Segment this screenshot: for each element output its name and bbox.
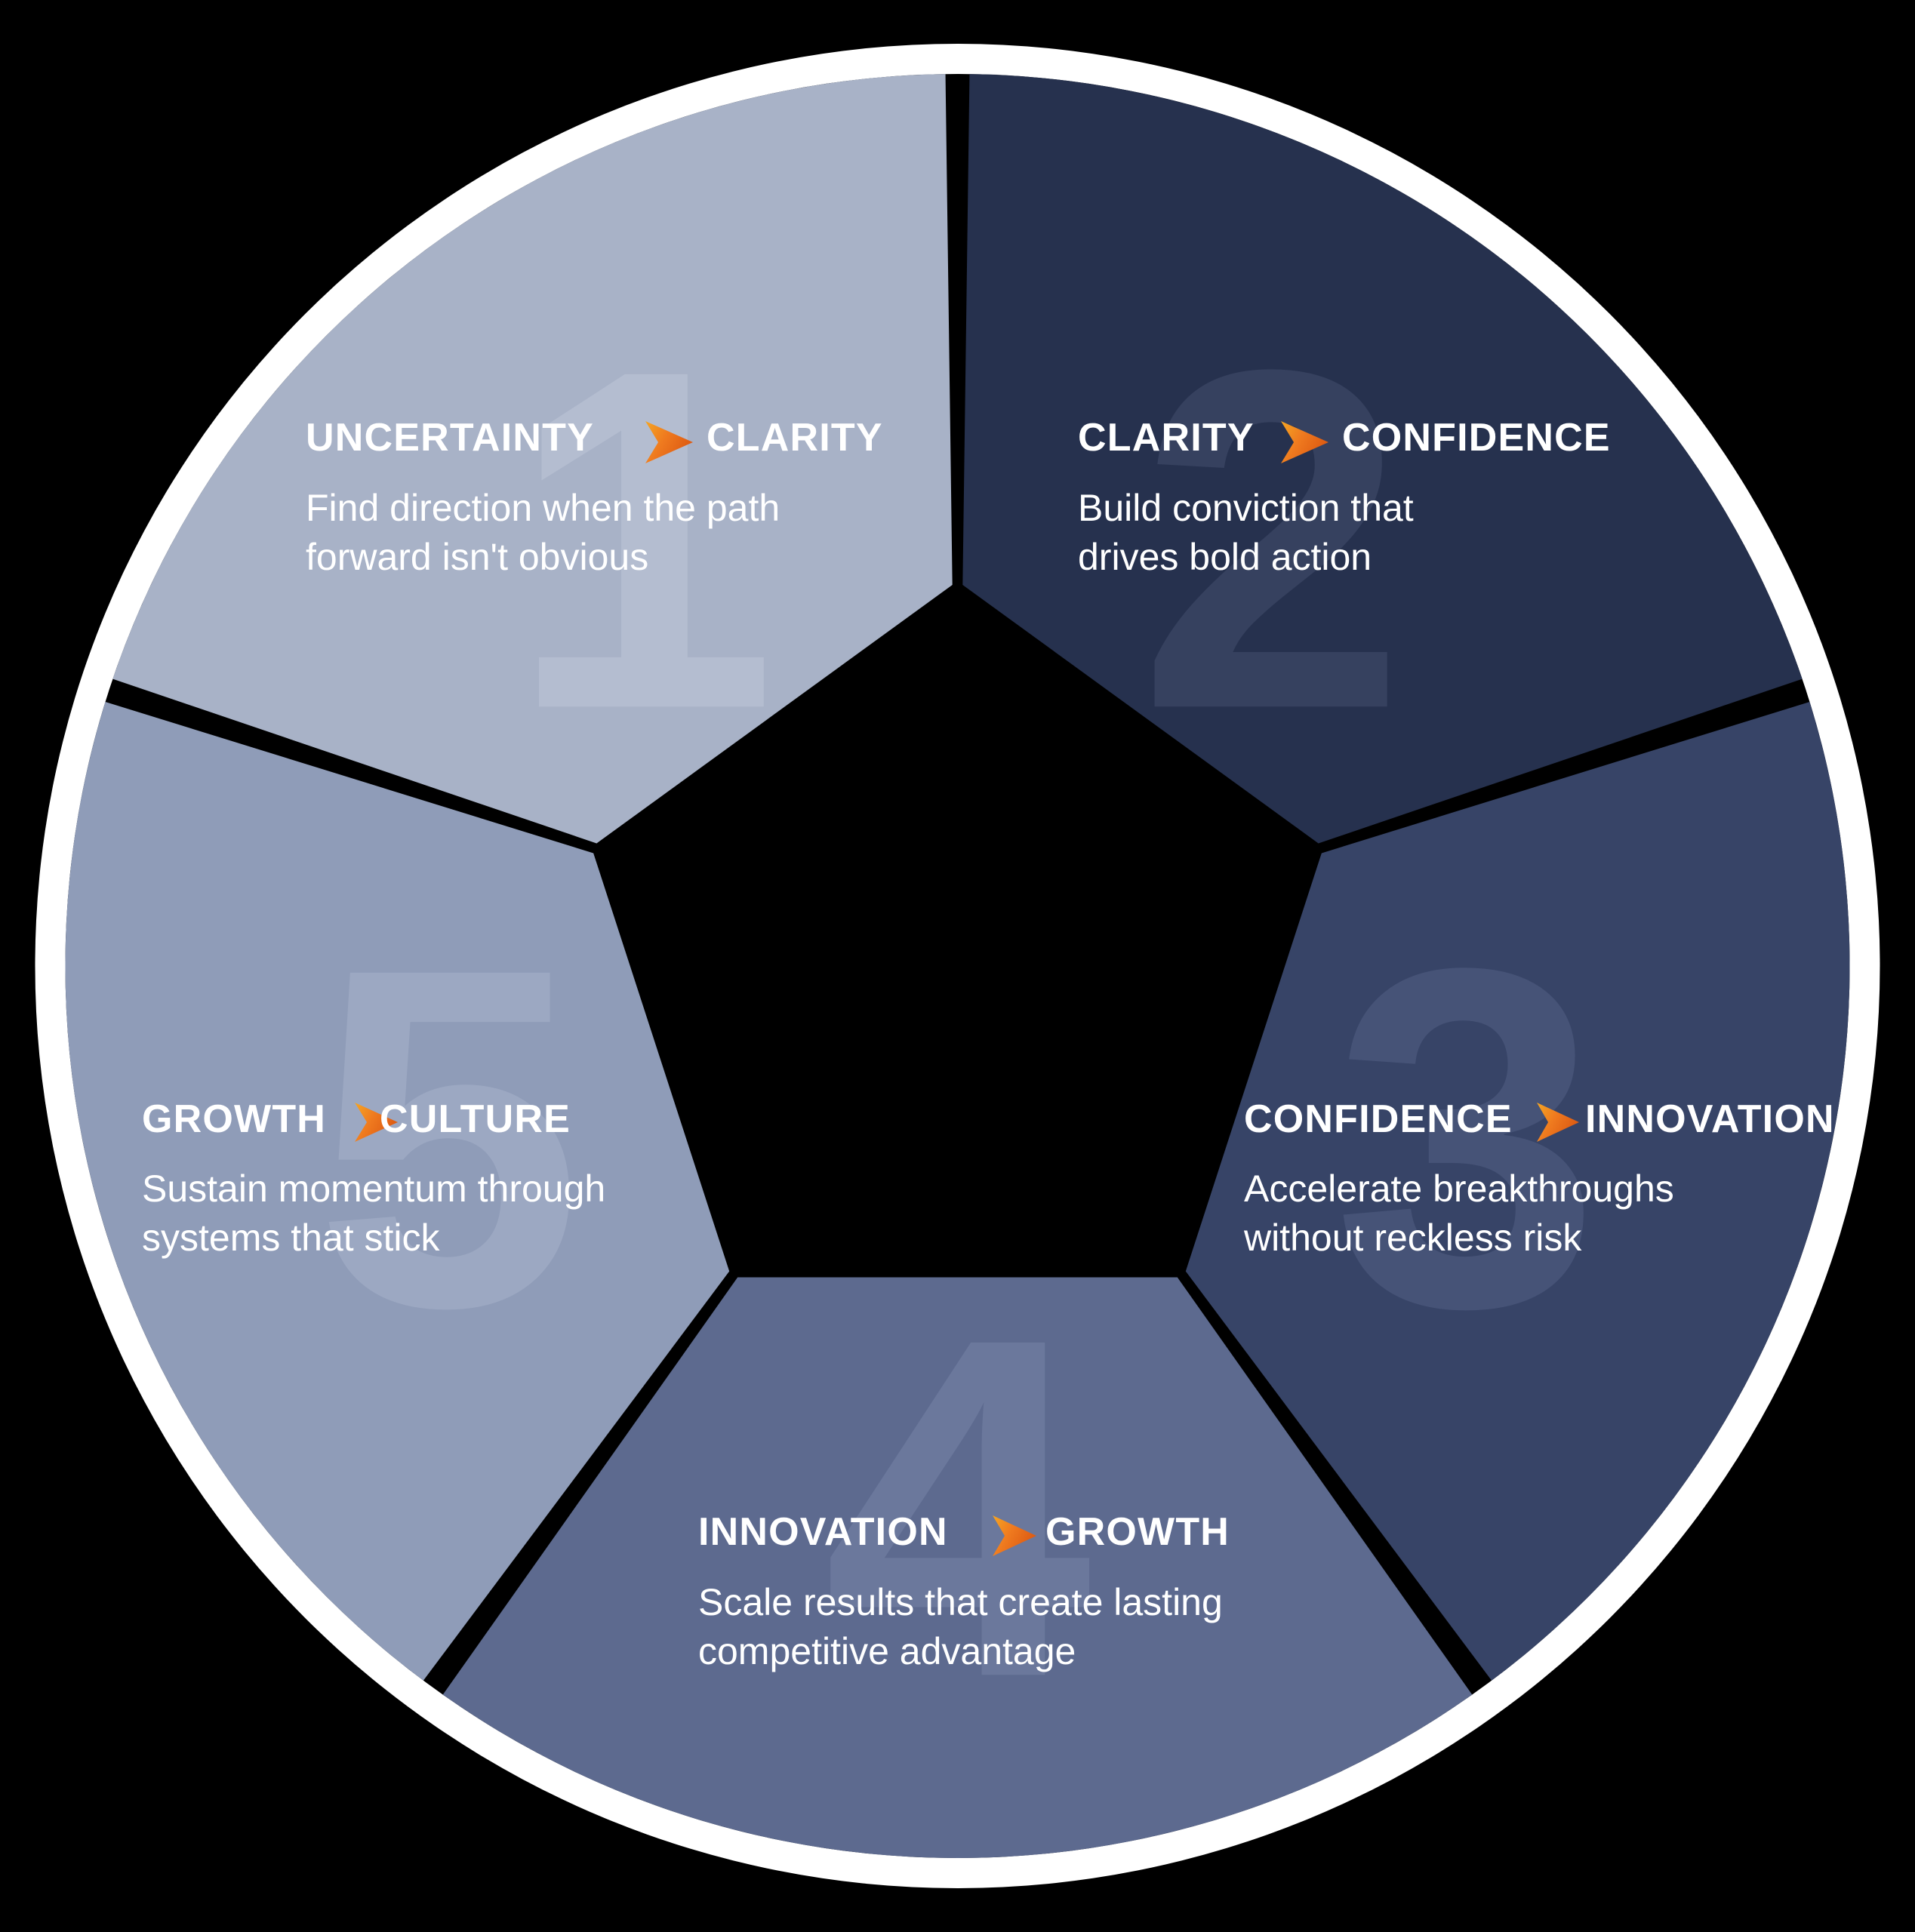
segment-2-title-to: CONFIDENCE bbox=[1342, 416, 1611, 460]
segment-4-title-to: GROWTH bbox=[1045, 1510, 1230, 1554]
segment-2-title-from: CLARITY bbox=[1078, 416, 1255, 460]
segment-1-desc-line1: Find direction when the path bbox=[306, 487, 780, 529]
segment-5-title-to: CULTURE bbox=[380, 1097, 571, 1141]
segment-2-desc-line1: Build conviction that bbox=[1078, 487, 1414, 529]
segment-4-watermark-number: 4 bbox=[824, 1238, 1095, 1777]
segment-3-title-to: INNOVATION bbox=[1585, 1097, 1835, 1141]
segment-3-title-from: CONFIDENCE bbox=[1244, 1097, 1513, 1141]
segment-1-title-from: UNCERTAINTY bbox=[306, 416, 594, 460]
pentagon-wheel-diagram: 12345 UNCERTAINTY CLARITY Find direction… bbox=[0, 0, 1915, 1932]
segment-1-title-to: CLARITY bbox=[707, 416, 883, 460]
segment-5-desc-line2: systems that stick bbox=[142, 1217, 441, 1259]
segment-4-desc-line2: competitive advantage bbox=[698, 1630, 1076, 1672]
segment-3-desc-line1: Accelerate breakthroughs bbox=[1244, 1168, 1674, 1210]
segment-2-desc-line2: drives bold action bbox=[1078, 536, 1372, 578]
segment-5-title-from: GROWTH bbox=[142, 1097, 326, 1141]
segment-4-title-from: INNOVATION bbox=[698, 1510, 948, 1554]
segment-1-desc-line2: forward isn't obvious bbox=[306, 536, 648, 578]
segment-4-desc-line1: Scale results that create lasting bbox=[698, 1581, 1223, 1623]
segment-5-desc-line1: Sustain momentum through bbox=[142, 1168, 605, 1210]
segment-3-desc-line2: without reckless risk bbox=[1243, 1217, 1582, 1259]
diagram-canvas: 12345 UNCERTAINTY CLARITY Find direction… bbox=[0, 0, 1915, 1932]
